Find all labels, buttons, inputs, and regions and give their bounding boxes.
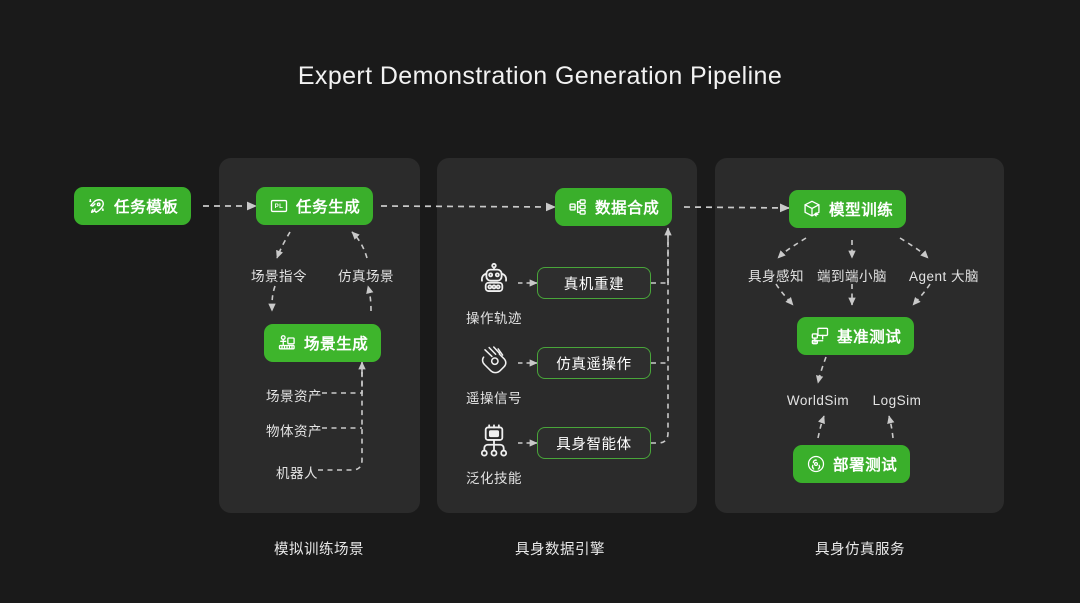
svg-text:PL: PL bbox=[275, 203, 284, 210]
deploy-cycle-icon bbox=[806, 454, 826, 474]
cube-train-icon bbox=[802, 199, 822, 219]
node-deployment-test[interactable]: 部署测试 bbox=[793, 445, 910, 483]
node-task-generation[interactable]: PL 任务生成 bbox=[256, 187, 373, 225]
flow-label-agent-brain: Agent 大脑 bbox=[909, 265, 979, 285]
input-label-scene-assets: 场景资产 bbox=[266, 385, 322, 405]
flow-label-end-to-end-cerebellum: 端到端小脑 bbox=[817, 265, 887, 285]
icon-label-generalization-skill: 泛化技能 bbox=[466, 467, 522, 487]
node-data-synthesis[interactable]: 数据合成 bbox=[555, 188, 672, 226]
node-label: 真机重建 bbox=[564, 273, 624, 294]
data-tree-icon bbox=[568, 197, 588, 217]
node-benchmark-test[interactable]: 基准测试 bbox=[797, 317, 914, 355]
diagram-canvas: Expert Demonstration Generation Pipeline bbox=[0, 0, 1080, 603]
flow-label-scene-instruction: 场景指令 bbox=[251, 265, 307, 285]
flow-label-simulated-scene: 仿真场景 bbox=[338, 265, 394, 285]
robot-icon bbox=[474, 262, 514, 298]
panel-caption-embodied-simulation-service: 具身仿真服务 bbox=[815, 538, 905, 559]
page-title: Expert Demonstration Generation Pipeline bbox=[0, 62, 1080, 91]
node-label: 任务生成 bbox=[296, 195, 360, 217]
flow-label-logsim: LogSim bbox=[873, 393, 922, 408]
chip-icon bbox=[474, 424, 514, 460]
node-model-training[interactable]: 模型训练 bbox=[789, 190, 906, 228]
input-label-object-assets: 物体资产 bbox=[266, 420, 322, 440]
icon-label-teleop-signal: 遥操信号 bbox=[466, 387, 522, 407]
node-label: 部署测试 bbox=[833, 453, 897, 475]
node-embodied-agent[interactable]: 具身智能体 bbox=[537, 427, 651, 459]
node-label: 基准测试 bbox=[837, 325, 901, 347]
flow-label-worldsim: WorldSim bbox=[787, 393, 849, 408]
node-label: 数据合成 bbox=[595, 196, 659, 218]
node-label: 任务模板 bbox=[114, 195, 178, 217]
icon-label-operation-trajectory: 操作轨迹 bbox=[466, 307, 522, 327]
node-label: 场景生成 bbox=[304, 332, 368, 354]
node-label: 模型训练 bbox=[829, 198, 893, 220]
input-label-robot: 机器人 bbox=[276, 462, 318, 482]
node-label: 具身智能体 bbox=[556, 433, 632, 454]
flow-label-embodied-perception: 具身感知 bbox=[748, 265, 804, 285]
panel-caption-embodied-data-engine: 具身数据引擎 bbox=[515, 538, 605, 559]
node-scene-generation[interactable]: 场景生成 bbox=[264, 324, 381, 362]
panel-caption-simulation-training-scenes: 模拟训练场景 bbox=[274, 538, 364, 559]
node-real-machine-reconstruction[interactable]: 真机重建 bbox=[537, 267, 651, 299]
rocket-icon bbox=[87, 196, 107, 216]
node-label: 仿真遥操作 bbox=[556, 353, 632, 374]
glove-icon bbox=[474, 344, 514, 380]
node-task-template[interactable]: 任务模板 bbox=[74, 187, 191, 225]
pl-frame-icon: PL bbox=[269, 196, 289, 216]
scene-robot-icon bbox=[277, 333, 297, 353]
benchmark-screen-icon bbox=[810, 326, 830, 346]
node-simulated-teleoperation[interactable]: 仿真遥操作 bbox=[537, 347, 651, 379]
